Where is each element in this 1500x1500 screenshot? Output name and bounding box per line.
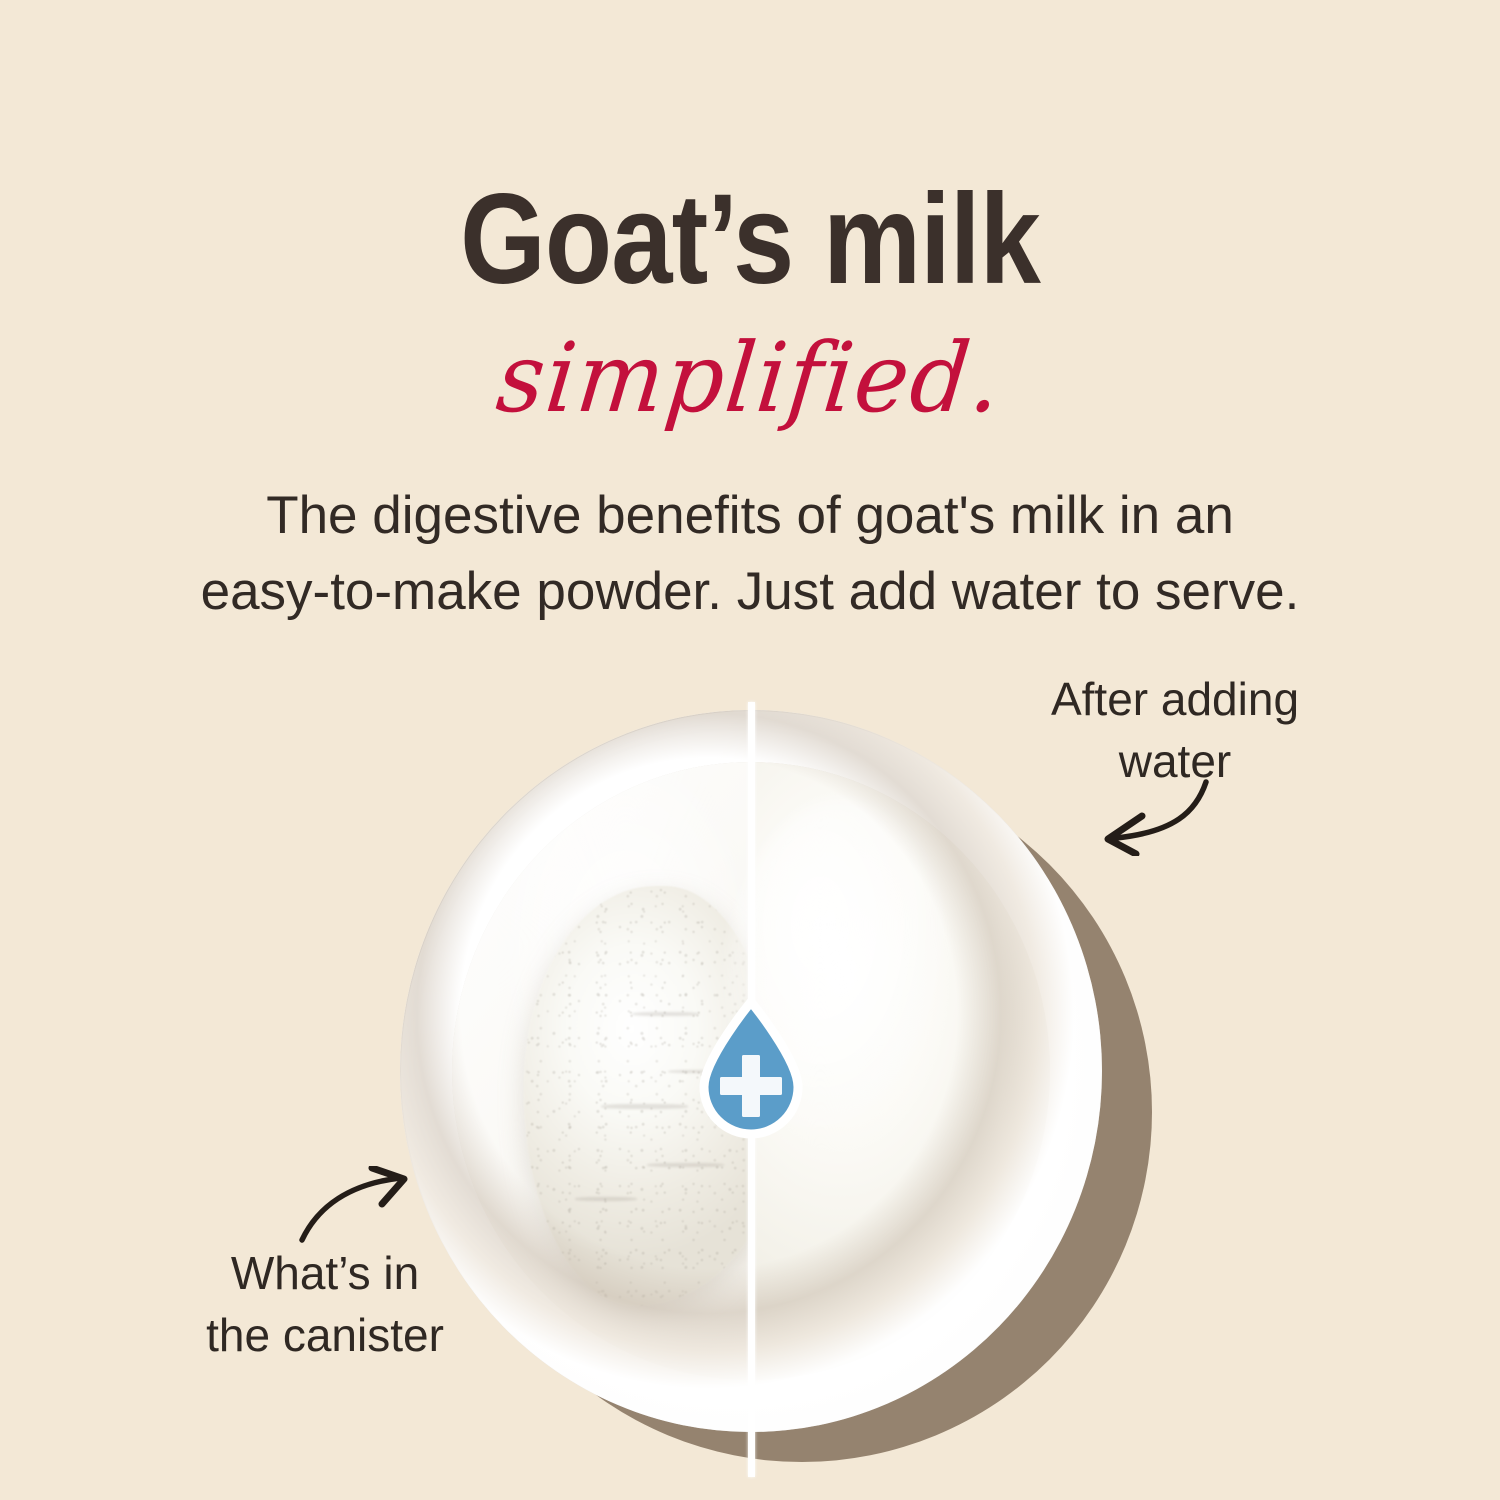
callout-right-line-1: After adding bbox=[1010, 668, 1340, 730]
curved-arrow-down-left-icon bbox=[1078, 776, 1218, 856]
callout-left-line-1: What’s in bbox=[150, 1242, 500, 1304]
callout-whats-in-the-canister: What’s in the canister bbox=[150, 1242, 500, 1366]
curved-arrow-up-right-icon bbox=[296, 1166, 416, 1248]
promo-image-canvas: Goat’s milk simplified. The digestive be… bbox=[0, 0, 1500, 1500]
callout-after-adding-water: After adding water bbox=[1010, 668, 1340, 792]
callout-left-line-2: the canister bbox=[150, 1304, 500, 1366]
water-drop-plus-icon bbox=[694, 997, 808, 1143]
